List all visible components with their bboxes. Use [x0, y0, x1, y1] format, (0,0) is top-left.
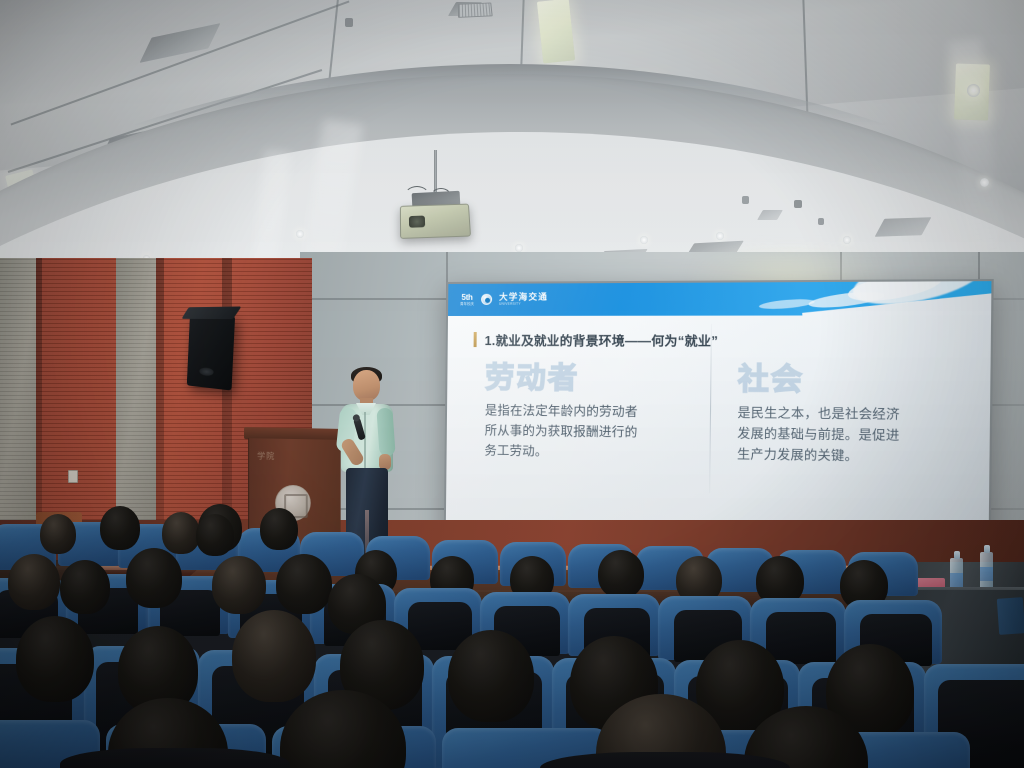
- university-name-block: 大学海交通 UNIVERSITY: [499, 293, 548, 306]
- audience-head: [260, 508, 298, 550]
- wall-power-outlet: [68, 470, 78, 483]
- title-accent-bar-icon: [474, 332, 477, 347]
- ceiling-spotlight: [640, 236, 648, 244]
- projector-lens: [409, 216, 425, 228]
- audience-head: [16, 616, 94, 702]
- ceiling-light-panel: [537, 0, 575, 64]
- audience-seating: [0, 498, 1024, 768]
- ceiling-spotlight: [980, 178, 989, 187]
- university-name-cn: 大学海交通: [499, 293, 548, 302]
- wall-mounted-loudspeaker: [187, 316, 235, 391]
- anniversary-number: 5th: [462, 294, 473, 302]
- speaker-top-face: [181, 306, 241, 319]
- audience-head: [162, 512, 200, 554]
- column-heading-society: 社会: [738, 364, 962, 397]
- column-heading-laborer: 劳动者: [485, 363, 700, 395]
- ceiling-spotlight: [843, 236, 851, 244]
- ceiling: [0, 0, 1024, 290]
- audience-head: [100, 506, 140, 550]
- ceiling-sensor-icon: [742, 196, 749, 204]
- audience-head: [212, 556, 266, 614]
- ceiling-sensor-icon: [794, 200, 802, 208]
- ceiling-sensor-icon: [818, 218, 824, 225]
- wave-decoration-icon: [759, 297, 815, 310]
- podium-label: 学院: [257, 450, 275, 461]
- body-line: 是民生之本，也是社会经济: [737, 404, 933, 427]
- body-line: 务工劳动。: [484, 442, 668, 465]
- body-line: 所从事的为获取报酬进行的: [485, 422, 669, 445]
- ceiling-air-vent: [458, 2, 493, 17]
- audience-head: [448, 630, 534, 722]
- presenter-shirt-placket: [364, 412, 366, 468]
- anniversary-badge: 5th 周年校庆: [460, 294, 474, 306]
- audience-head: [126, 548, 182, 608]
- audience-head: [8, 554, 60, 610]
- audience-head: [196, 514, 234, 556]
- university-emblem-icon: [481, 294, 492, 305]
- column-body-laborer: 是指在法定年龄内的劳动者 所从事的为获取报酬进行的 务工劳动。: [484, 402, 669, 465]
- slide-logo-block: 5th 周年校庆 大学海交通 UNIVERSITY: [460, 293, 548, 307]
- slide-title-row: 1.就业及就业的背景环境——何为“就业”: [474, 330, 973, 350]
- audience-head: [232, 610, 316, 702]
- audience-shoulders: [60, 748, 290, 768]
- ceiling-spotlight: [296, 230, 304, 238]
- university-name-en: UNIVERSITY: [499, 303, 548, 306]
- speaker-cabinet: [187, 316, 235, 391]
- audience-head: [598, 550, 644, 598]
- body-line: 是指在法定年龄内的劳动者: [485, 402, 669, 424]
- ceiling-sensor-icon: [345, 18, 353, 27]
- slide-header-banner: 5th 周年校庆 大学海交通 UNIVERSITY: [448, 281, 991, 316]
- seat-backrest: [766, 612, 836, 664]
- ceiling-spotlight: [515, 244, 523, 252]
- column-body-society: 是民生之本，也是社会经济 发展的基础与前提。是促进 生产力发展的关键。: [737, 404, 933, 469]
- audience-head: [60, 560, 110, 614]
- presenter-right-arm: [376, 408, 395, 457]
- ceiling-downlight: [967, 84, 980, 97]
- ceiling-spotlight: [716, 232, 724, 240]
- body-line: 生产力发展的关键。: [737, 445, 933, 469]
- auditorium-photo: 5th 周年校庆 大学海交通 UNIVERSITY 1.就业及就业的背景环境——…: [0, 0, 1024, 768]
- audience-head: [40, 514, 76, 554]
- audience-head: [276, 554, 332, 614]
- anniversary-subtitle: 周年校庆: [460, 303, 474, 306]
- presenter-head: [353, 370, 380, 401]
- slide-title: 1.就业及就业的背景环境——何为“就业”: [485, 330, 719, 350]
- body-line: 发展的基础与前提。是促进: [737, 425, 933, 448]
- ceiling-projector: [400, 204, 471, 239]
